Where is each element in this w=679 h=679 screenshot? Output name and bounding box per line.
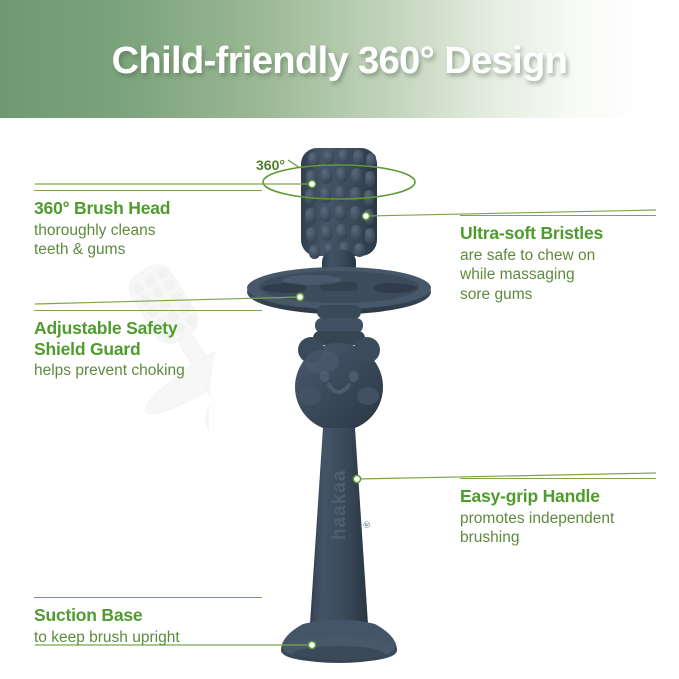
callout-bristles: Ultra-soft Bristles are safe to chew onw…	[460, 215, 660, 305]
callout-rule	[460, 215, 656, 216]
callout-body: thoroughly cleansteeth & gums	[34, 221, 264, 261]
suction-base	[281, 620, 397, 664]
callout-rule	[34, 190, 262, 191]
brand-logo: haakaa ®	[329, 470, 372, 540]
infographic-root: Child-friendly 360° Design	[0, 0, 679, 679]
rotation-indicator-ellipse	[263, 165, 415, 199]
svg-text:haakaa: haakaa	[329, 470, 350, 540]
page-title: Child-friendly 360° Design	[0, 40, 679, 83]
callout-handle: Easy-grip Handle promotes independentbru…	[460, 478, 665, 548]
callout-body: helps prevent choking	[34, 361, 264, 381]
rotation-degree-label: 360°	[256, 157, 285, 173]
callout-heading: Adjustable SafetyShield Guard	[34, 318, 264, 359]
callout-heading: 360° Brush Head	[34, 198, 264, 219]
header-banner: Child-friendly 360° Design	[0, 0, 679, 118]
callout-body: are safe to chew onwhile massagingsore g…	[460, 246, 660, 305]
ribbed-collar	[313, 305, 365, 345]
callout-heading: Suction Base	[34, 605, 274, 626]
callout-rule	[34, 310, 262, 311]
callout-rule	[460, 478, 656, 479]
svg-text:®: ®	[362, 521, 372, 528]
callout-heading: Ultra-soft Bristles	[460, 223, 660, 244]
leader-line-shield	[35, 297, 300, 304]
callout-suction-base: Suction Base to keep brush upright	[34, 597, 274, 647]
rotation-leader-line	[288, 160, 300, 168]
brush-head	[301, 148, 377, 298]
callout-rule	[34, 597, 262, 598]
callout-body: promotes independentbrushing	[460, 509, 665, 549]
callout-heading: Easy-grip Handle	[460, 486, 665, 507]
callout-brush-head: 360° Brush Head thoroughly cleansteeth &…	[34, 190, 264, 260]
callout-shield-guard: Adjustable SafetyShield Guard helps prev…	[34, 310, 264, 381]
handle	[310, 428, 368, 624]
callout-body: to keep brush upright	[34, 628, 274, 648]
bear-face-bead	[295, 337, 383, 431]
safety-shield-disc	[247, 267, 431, 314]
